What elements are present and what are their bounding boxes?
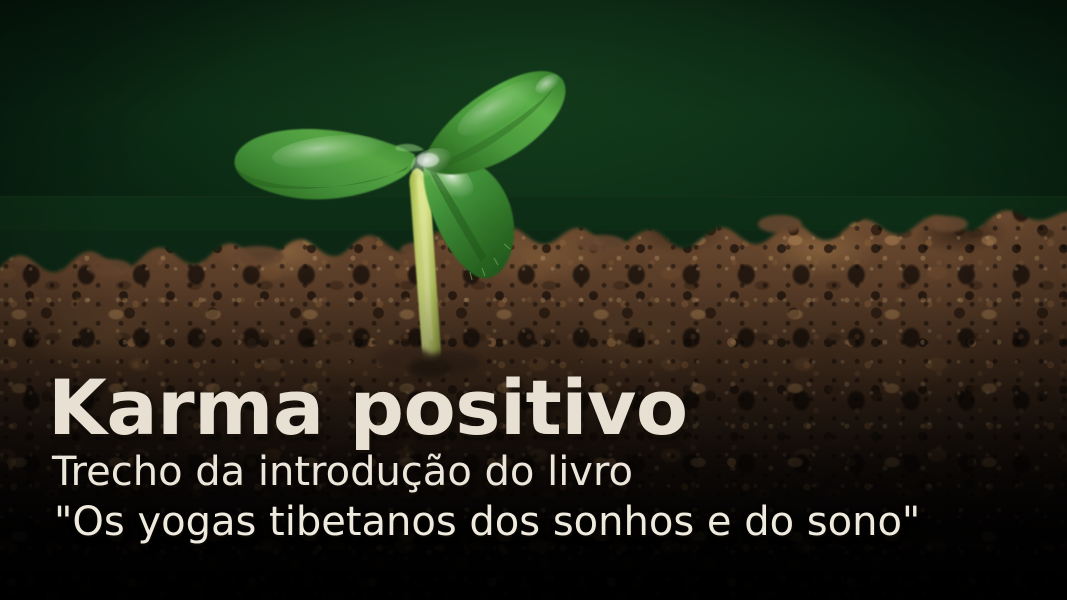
subtitle-line-2: "Os yogas tibetanos dos sonhos e do sono… bbox=[54, 501, 1008, 543]
poster-canvas: Karma positivo Trecho da introdução do l… bbox=[0, 0, 1067, 600]
subtitle-line-1: Trecho da introdução do livro bbox=[52, 451, 1008, 493]
soil-top-ridge bbox=[0, 196, 1067, 324]
page-title: Karma positivo bbox=[48, 372, 1008, 445]
text-overlay: Karma positivo Trecho da introdução do l… bbox=[48, 372, 1008, 544]
